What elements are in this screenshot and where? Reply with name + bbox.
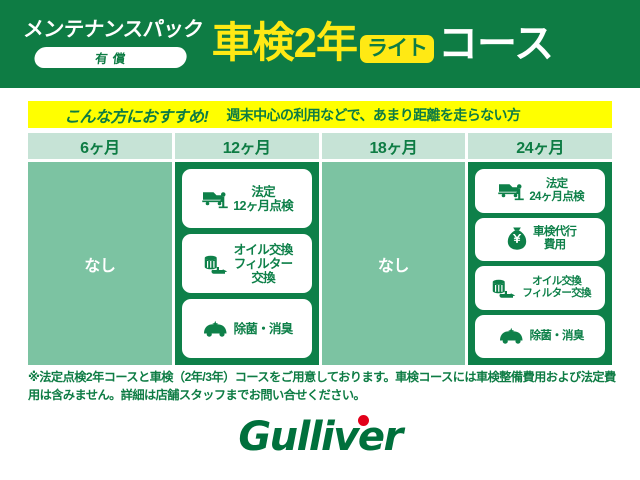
plan-column-items: 法定 12ヶ月点検オイル交換 フィルター 交換除菌・消臭	[175, 162, 319, 365]
footnote-text: ※法定点検2年コースと車検（2年/3年）コースをご用意しております。車検コースに…	[28, 369, 620, 404]
none-label: なし	[378, 252, 409, 276]
service-item-card: 法定 24ヶ月点検	[475, 169, 605, 213]
plan-column-header: 18ヶ月	[322, 133, 466, 159]
car-sanitize-icon	[497, 324, 527, 348]
recommend-detail: 週末中心の利用などで、あまり距離を走らない方	[226, 105, 520, 125]
service-item-card: 除菌・消臭	[475, 315, 605, 359]
headline-suffix: コース	[438, 24, 553, 64]
plan-column: 12ヶ月法定 12ヶ月点検オイル交換 フィルター 交換除菌・消臭	[175, 133, 319, 365]
plan-column-header: 6ヶ月	[28, 133, 172, 159]
service-item-label: 除菌・消臭	[234, 322, 293, 336]
oil-filter-change-icon	[201, 249, 231, 279]
service-item-card: オイル交換 フィルター 交換	[182, 234, 312, 293]
light-badge: ライト	[360, 35, 434, 63]
recommend-heading: こんな方におすすめ!	[64, 103, 208, 127]
car-lift-inspection-icon	[200, 184, 230, 214]
car-sanitize-icon	[201, 317, 231, 341]
plan-column: 6ヶ月なし	[28, 133, 172, 365]
plan-column-empty: なし	[322, 162, 466, 365]
headline-main: 車検2年	[212, 22, 357, 64]
service-item-card: オイル交換 フィルター交換	[475, 266, 605, 310]
maintenance-pack-infographic: メンテナンスパック 有償 車検2年 ライト コース こんな方におすすめ! 週末中…	[0, 0, 640, 480]
header-bar: メンテナンスパック 有償 車検2年 ライト コース	[0, 0, 640, 88]
service-item-label: 車検代行 費用	[533, 226, 576, 252]
service-item-card: 車検代行 費用	[475, 218, 605, 262]
service-item-card: 除菌・消臭	[182, 299, 312, 358]
logo-text: Gulliver	[238, 414, 401, 460]
plan-column: 18ヶ月なし	[322, 133, 466, 365]
none-label: なし	[84, 252, 115, 276]
pack-title: メンテナンスパック	[22, 20, 204, 41]
plan-column-empty: なし	[28, 162, 172, 365]
headline-row: 車検2年 ライト コース	[212, 22, 553, 66]
service-item-label: 法定 24ヶ月点検	[529, 178, 584, 204]
plan-column-items: 法定 24ヶ月点検車検代行 費用オイル交換 フィルター交換除菌・消臭	[468, 162, 612, 365]
service-item-label: オイル交換 フィルター 交換	[234, 243, 293, 285]
logo-wordmark: Gulliver	[238, 414, 401, 460]
service-item-label: オイル交換 フィルター交換	[522, 276, 590, 300]
plan-column-header: 12ヶ月	[175, 133, 319, 159]
service-item-label: 除菌・消臭	[530, 330, 584, 343]
plan-table: 6ヶ月なし12ヶ月法定 12ヶ月点検オイル交換 フィルター 交換除菌・消臭18ヶ…	[28, 133, 612, 365]
oil-filter-change-icon	[489, 273, 519, 303]
maintenance-pack-block: メンテナンスパック 有償	[20, 20, 205, 68]
money-bag-yen-icon	[504, 225, 530, 253]
car-lift-inspection-icon	[496, 176, 526, 206]
plan-column-header: 24ヶ月	[468, 133, 612, 159]
brand-logo: Gulliver	[0, 414, 640, 460]
paid-badge: 有償	[33, 47, 187, 68]
plan-column: 24ヶ月法定 24ヶ月点検車検代行 費用オイル交換 フィルター交換除菌・消臭	[468, 133, 612, 365]
recommend-banner: こんな方におすすめ! 週末中心の利用などで、あまり距離を走らない方	[28, 101, 612, 128]
service-item-card: 法定 12ヶ月点検	[182, 169, 312, 228]
service-item-label: 法定 12ヶ月点検	[233, 185, 293, 213]
